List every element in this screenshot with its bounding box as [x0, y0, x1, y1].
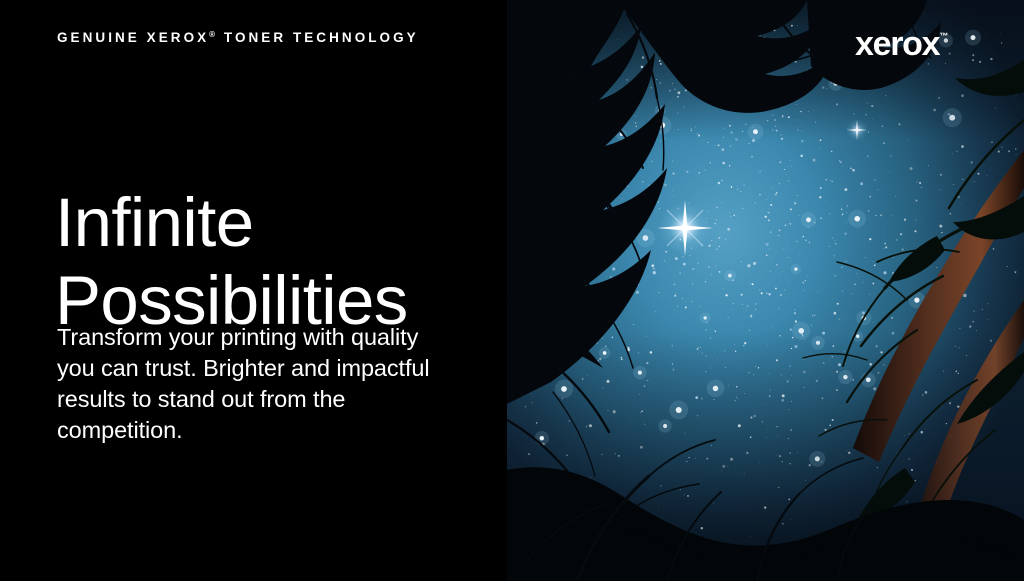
- tree-silhouettes: [507, 0, 1024, 581]
- eyebrow-text-before: GENUINE XEROX: [57, 30, 209, 45]
- page-title: InfinitePossibilities: [55, 184, 408, 340]
- eyebrow-text: GENUINE XEROX® TONER TECHNOLOGY: [57, 31, 419, 45]
- xerox-logo[interactable]: xerox™: [855, 27, 948, 61]
- xerox-marketing-banner: GENUINE XEROX® TONER TECHNOLOGY Infinite…: [0, 0, 1024, 581]
- left-canopy: [507, 0, 667, 404]
- logo-wordmark: xerox: [855, 25, 939, 63]
- body-copy: Transform your printing with quality you…: [57, 322, 447, 446]
- text-panel: GENUINE XEROX® TONER TECHNOLOGY Infinite…: [0, 0, 507, 581]
- headline-line-1: Infinite: [55, 184, 254, 261]
- registered-mark: ®: [209, 30, 217, 39]
- trademark-mark: ™: [939, 31, 948, 41]
- eyebrow-text-after: TONER TECHNOLOGY: [224, 30, 419, 45]
- night-sky-forest-image: [507, 0, 1024, 581]
